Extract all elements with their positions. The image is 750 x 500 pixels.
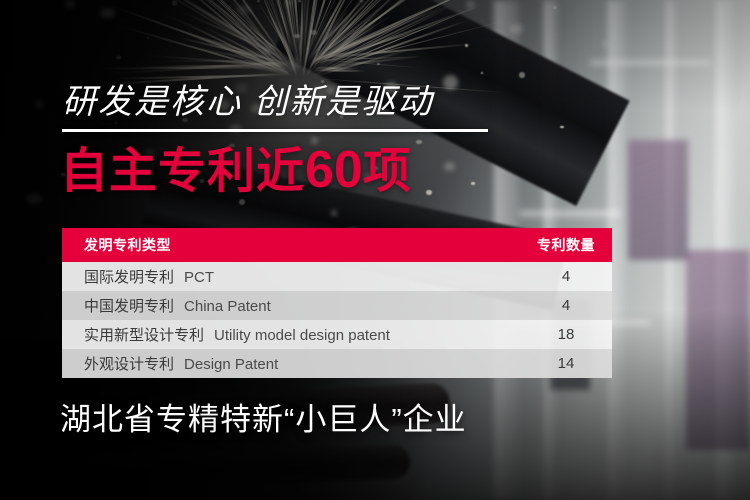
banner-content: 研发是核心 创新是驱动 自主专利近60项 发明专利类型 专利数量 国际发明专利P… bbox=[0, 0, 750, 500]
table-header-row: 发明专利类型 专利数量 bbox=[62, 228, 612, 262]
table-row: 实用新型设计专利Utility model design patent18 bbox=[62, 320, 612, 349]
table-row: 国际发明专利PCT4 bbox=[62, 262, 612, 291]
header-cell-category: 发明专利类型 bbox=[62, 235, 520, 255]
category-name-en: PCT bbox=[184, 269, 214, 286]
cell-category: 国际发明专利PCT bbox=[62, 266, 520, 287]
table-row: 中国发明专利China Patent4 bbox=[62, 291, 612, 320]
headline-text: 研发是核心 创新是驱动 bbox=[62, 82, 433, 122]
category-name-en: Design Patent bbox=[184, 356, 278, 373]
cell-category: 外观设计专利Design Patent bbox=[62, 353, 520, 374]
category-name-cn: 中国发明专利 bbox=[84, 298, 174, 315]
header-cell-quantity: 专利数量 bbox=[520, 235, 612, 255]
headline-divider bbox=[62, 129, 488, 132]
cell-category: 实用新型设计专利Utility model design patent bbox=[62, 324, 520, 345]
promo-banner: 研发是核心 创新是驱动 自主专利近60项 发明专利类型 专利数量 国际发明专利P… bbox=[0, 0, 750, 500]
table-body: 国际发明专利PCT4中国发明专利China Patent4实用新型设计专利Uti… bbox=[62, 262, 612, 378]
cell-quantity: 14 bbox=[520, 355, 612, 372]
patent-count-prefix: 自主专利近 bbox=[60, 145, 305, 198]
cell-quantity: 4 bbox=[520, 268, 612, 285]
cell-quantity: 4 bbox=[520, 297, 612, 314]
category-name-cn: 实用新型设计专利 bbox=[84, 327, 204, 344]
patent-table: 发明专利类型 专利数量 国际发明专利PCT4中国发明专利China Patent… bbox=[62, 228, 612, 378]
patent-count-headline: 自主专利近60项 bbox=[60, 141, 412, 201]
category-name-en: Utility model design patent bbox=[214, 327, 390, 344]
cell-category: 中国发明专利China Patent bbox=[62, 295, 520, 316]
cell-quantity: 18 bbox=[520, 326, 612, 343]
category-name-en: China Patent bbox=[184, 298, 271, 315]
category-name-cn: 国际发明专利 bbox=[84, 269, 174, 286]
patent-count-suffix: 项 bbox=[363, 145, 412, 198]
patent-count-number: 60 bbox=[305, 141, 363, 199]
table-row: 外观设计专利Design Patent14 bbox=[62, 349, 612, 378]
tagline-text: 湖北省专精特新“小巨人”企业 bbox=[60, 400, 467, 440]
category-name-cn: 外观设计专利 bbox=[84, 356, 174, 373]
